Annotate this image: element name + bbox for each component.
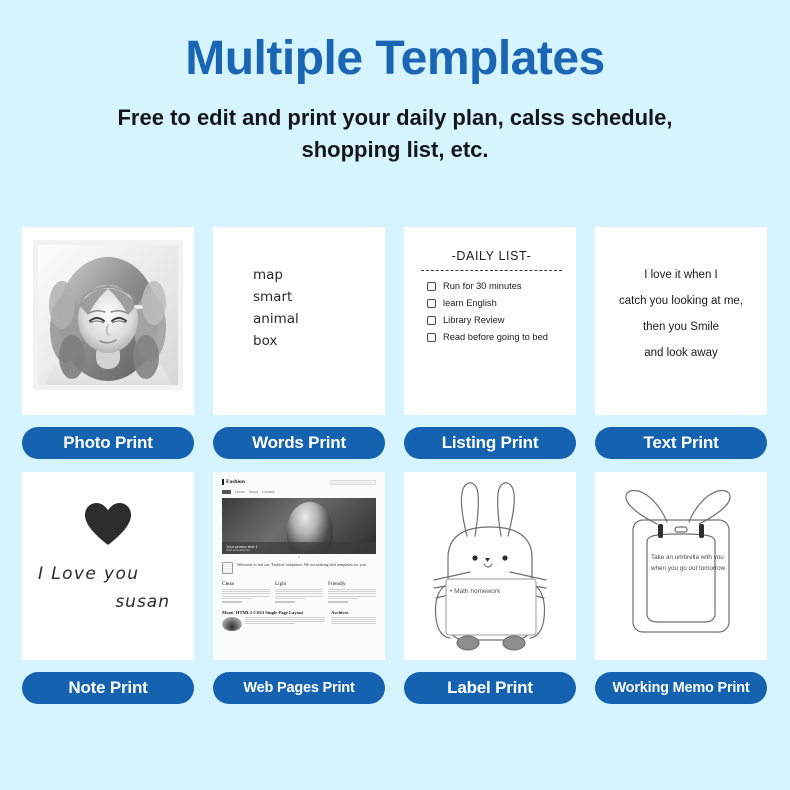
word-item: map [253, 265, 299, 287]
label-note-text: • Math homework [450, 588, 500, 595]
mock-bottom-row [222, 617, 325, 631]
working-memo-print-button[interactable]: Working Memo Print [595, 672, 767, 704]
mock-bottom-section: Moon' HTML5 CSS3 Single Page Layout Arch… [222, 610, 376, 631]
mock-hero-caption: Your promo text 1 Short secondary line [222, 542, 376, 554]
checklist-title: -DAILY LIST- [419, 249, 564, 263]
photo-portrait-image [38, 245, 178, 385]
mock-thumbnail-image [222, 617, 242, 631]
memo-note-text: Take an umbrella with you when you go ou… [651, 552, 727, 574]
photo-print-button[interactable]: Photo Print [22, 427, 194, 459]
mock-nav-item[interactable]: About [249, 490, 258, 494]
template-cell-label-print: • Math homework Label Print [404, 472, 576, 704]
note-print-button[interactable]: Note Print [22, 672, 194, 704]
template-grid: Photo Print map smart animal box Words P… [22, 227, 768, 704]
card-preview-web-pages-print[interactable]: Fashion Home About Contact Your promo te… [213, 472, 385, 660]
mock-body-lines [275, 589, 323, 599]
mock-welcome-block: Welcome to test our 'Fashion' templates.… [222, 562, 376, 574]
word-item: smart [253, 287, 299, 309]
page-subtitle-line-2: shopping list, etc. [301, 137, 488, 162]
daily-checklist: -DAILY LIST- Run for 30 minutes learn En… [419, 249, 564, 349]
template-cell-text-print: I love it when I catch you looking at me… [595, 227, 767, 459]
note-line-2: susan [115, 592, 170, 612]
mock-hero-banner: Your promo text 1 Short secondary line [222, 498, 376, 554]
quote-block: I love it when I catch you looking at me… [605, 263, 757, 367]
mock-nav-item[interactable]: Home [235, 490, 245, 494]
listing-print-button[interactable]: Listing Print [404, 427, 576, 459]
mock-body-lines [222, 589, 270, 599]
quote-line: catch you looking at me, [605, 289, 757, 315]
checkbox-icon[interactable] [427, 333, 436, 342]
template-cell-working-memo-print: Take an umbrella with you when you go ou… [595, 472, 767, 704]
quote-line: I love it when I [605, 263, 757, 289]
mock-nav: Home About Contact [222, 490, 376, 494]
checkbox-icon[interactable] [427, 316, 436, 325]
mock-hero-caption-sub: Short secondary line [226, 549, 372, 552]
mock-nav-active-pill[interactable] [222, 490, 231, 494]
text-print-button[interactable]: Text Print [595, 427, 767, 459]
page-subtitle: Free to edit and print your daily plan, … [0, 102, 790, 166]
quote-line: then you Smile [605, 315, 757, 341]
template-cell-note-print: I Love you susan Note Print [22, 472, 194, 704]
card-preview-listing-print[interactable]: -DAILY LIST- Run for 30 minutes learn En… [404, 227, 576, 415]
note-line-1: I Love you [38, 564, 139, 584]
mock-carousel-dot-icon[interactable]: • [222, 554, 376, 560]
word-item: box [253, 331, 299, 353]
checklist-row: Library Review [419, 315, 564, 325]
card-preview-text-print[interactable]: I love it when I catch you looking at me… [595, 227, 767, 415]
card-preview-label-print[interactable]: • Math homework [404, 472, 576, 660]
mock-bottom-heading: Moon' HTML5 CSS3 Single Page Layout [222, 610, 325, 615]
mock-topbar: Fashion [222, 479, 376, 485]
mock-feature-column: Clean [222, 581, 270, 603]
mock-body-lines [328, 589, 376, 599]
page-title: Multiple Templates [0, 0, 790, 84]
mock-read-more-link[interactable] [275, 601, 295, 603]
mock-feature-column: Friendly [328, 581, 376, 603]
label-print-button[interactable]: Label Print [404, 672, 576, 704]
mock-column-heading: Clean [222, 581, 270, 587]
bunny-outline-icon [404, 472, 576, 660]
page-root: Multiple Templates Free to edit and prin… [0, 0, 790, 790]
checklist-label: Library Review [443, 315, 504, 325]
checklist-row: Read before going to bed [419, 332, 564, 342]
card-preview-photo-print[interactable] [22, 227, 194, 415]
mock-feature-columns: Clean Light Friendly [222, 581, 376, 603]
template-cell-photo-print: Photo Print [22, 227, 194, 459]
photo-frame [33, 240, 183, 390]
mock-column-heading: Friendly [328, 581, 376, 587]
mock-bottom-main: Moon' HTML5 CSS3 Single Page Layout [222, 610, 325, 631]
checkbox-icon[interactable] [427, 299, 436, 308]
quote-line: and look away [605, 341, 757, 367]
document-icon [222, 562, 233, 574]
template-cell-listing-print: -DAILY LIST- Run for 30 minutes learn En… [404, 227, 576, 459]
checklist-row: Run for 30 minutes [419, 281, 564, 291]
checklist-label: learn English [443, 298, 497, 308]
heart-icon [84, 502, 132, 546]
mock-read-more-link[interactable] [222, 601, 242, 603]
dashed-divider [421, 270, 562, 271]
webpage-mockup: Fashion Home About Contact Your promo te… [213, 472, 385, 660]
checkbox-icon[interactable] [427, 282, 436, 291]
template-cell-words-print: map smart animal box Words Print [213, 227, 385, 459]
card-preview-working-memo-print[interactable]: Take an umbrella with you when you go ou… [595, 472, 767, 660]
mock-sidebar: Archives [331, 610, 376, 631]
mock-search-input[interactable] [330, 480, 376, 485]
mock-welcome-text: Welcome to test our 'Fashion' templates.… [237, 562, 367, 568]
mock-sidebar-links[interactable] [331, 617, 376, 625]
mock-read-more-link[interactable] [328, 601, 348, 603]
web-pages-print-button[interactable]: Web Pages Print [213, 672, 385, 704]
card-preview-note-print[interactable]: I Love you susan [22, 472, 194, 660]
mock-site-logo: Fashion [222, 479, 245, 485]
checklist-label: Read before going to bed [443, 332, 548, 342]
mock-feature-column: Light [275, 581, 323, 603]
mock-column-heading: Light [275, 581, 323, 587]
card-preview-words-print[interactable]: map smart animal box [213, 227, 385, 415]
word-list: map smart animal box [253, 265, 299, 352]
mock-nav-item[interactable]: Contact [262, 490, 274, 494]
mock-body-lines [245, 617, 325, 631]
words-print-button[interactable]: Words Print [213, 427, 385, 459]
checklist-row: learn English [419, 298, 564, 308]
mock-sidebar-heading: Archives [331, 610, 376, 615]
template-cell-web-pages-print: Fashion Home About Contact Your promo te… [213, 472, 385, 704]
word-item: animal [253, 309, 299, 331]
checklist-label: Run for 30 minutes [443, 281, 522, 291]
page-subtitle-line-1: Free to edit and print your daily plan, … [117, 105, 672, 130]
